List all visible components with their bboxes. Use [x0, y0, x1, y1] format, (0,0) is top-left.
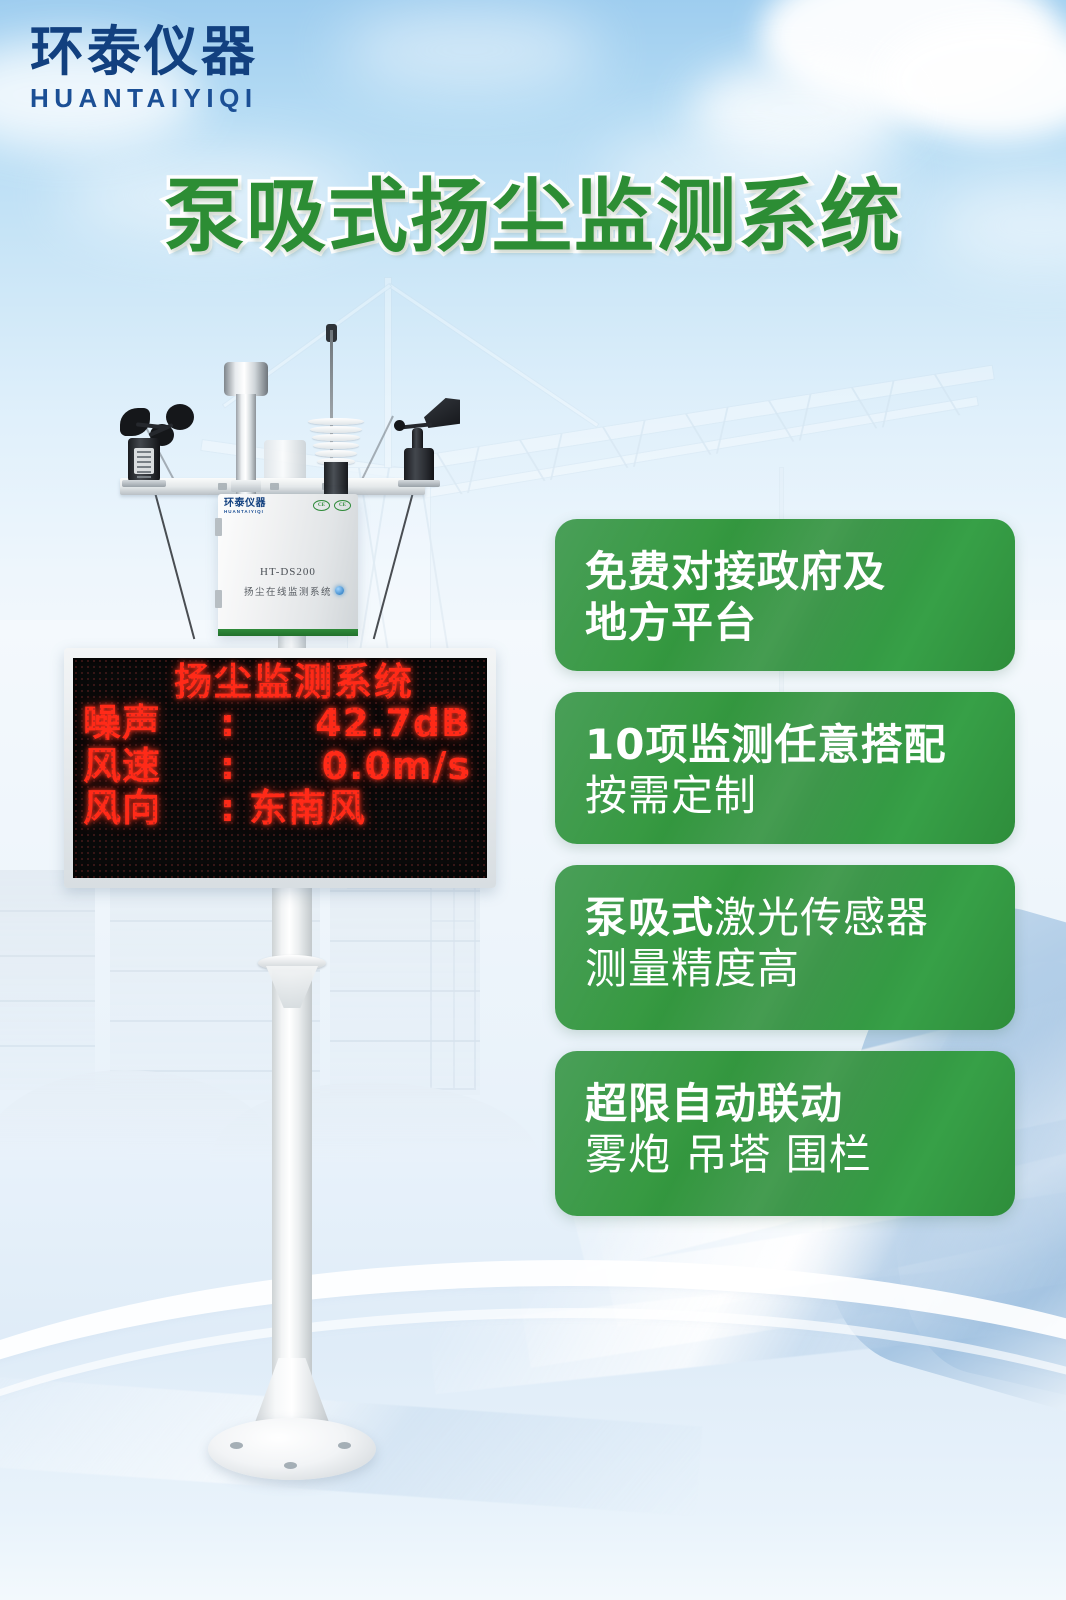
feature-line: 测量精度高 — [585, 943, 985, 994]
led-value-windspeed: 0.0m/s — [245, 745, 477, 788]
feature-card-government-platform[interactable]: 免费对接政府及 地方平台 — [555, 519, 1015, 671]
feature-line: 地方平台 — [585, 597, 985, 648]
power-led-icon — [335, 586, 344, 595]
led-label-windspeed: 风速 — [83, 745, 211, 788]
feature-card-auto-linkage[interactable]: 超限自动联动 雾炮 吊塔 围栏 — [555, 1051, 1015, 1216]
sampling-inlet-tube — [236, 394, 256, 494]
product-poster: 环泰仪器 HUANTAIYIQI 泵吸式扬尘监测系统 — [0, 0, 1066, 1600]
feature-line-emphasis: 泵吸式 — [585, 893, 714, 942]
led-label-noise: 噪声 — [83, 702, 211, 745]
quality-badge-icon: CE — [334, 500, 351, 511]
anemometer-label-plate — [134, 448, 154, 474]
led-colon-noise: : — [211, 702, 245, 745]
control-box-accent-strip — [218, 629, 358, 636]
led-value-noise: 42.7dB — [245, 702, 477, 745]
sampling-inlet-skirt — [231, 480, 261, 492]
sensor-cable-right — [373, 470, 420, 640]
feature-card-list: 免费对接政府及 地方平台 10项监测任意搭配 按需定制 泵吸式激光传感器 测量精… — [555, 519, 1015, 1237]
feature-card-pump-laser-sensor[interactable]: 泵吸式激光传感器 测量精度高 — [555, 865, 1015, 1030]
radiation-shield-sensor — [308, 418, 364, 464]
led-value-winddirection: 东南风 — [245, 787, 477, 830]
feature-line: 免费对接政府及 — [585, 546, 985, 597]
sampling-inlet-cap — [224, 362, 268, 396]
feature-line: 10项监测任意搭配 — [585, 719, 985, 770]
feature-line: 雾炮 吊塔 围栏 — [585, 1129, 985, 1180]
feature-card-ten-parameters[interactable]: 10项监测任意搭配 按需定制 — [555, 692, 1015, 844]
led-content: 扬尘监测系统 噪声 : 42.7dB 风速 : 0.0m/s 风向 : 东 — [73, 658, 487, 830]
led-screen: 扬尘监测系统 噪声 : 42.7dB 风速 : 0.0m/s 风向 : 东 — [73, 658, 487, 878]
control-box-model: HT-DS200 — [218, 566, 358, 578]
led-colon-winddirection: : — [211, 787, 245, 830]
sensor-cable-left — [148, 470, 195, 640]
led-row-noise: 噪声 : 42.7dB — [83, 702, 477, 745]
feature-line: 超限自动联动 — [585, 1078, 985, 1129]
pole-base-plate — [208, 1418, 376, 1480]
led-colon-windspeed: : — [211, 745, 245, 788]
feature-line-tail: 激光传感器 — [714, 893, 929, 942]
led-row-winddirection: 风向 : 东南风 — [83, 787, 477, 830]
led-title: 扬尘监测系统 — [83, 662, 477, 702]
led-label-winddirection: 风向 — [83, 787, 211, 830]
certification-badges: CE CE — [313, 500, 351, 511]
dust-monitor-device: 环泰仪器 HUANTAIYIQI CE CE HT-DS200 扬尘在线监测系统… — [0, 0, 540, 1600]
led-display-board: 扬尘监测系统 噪声 : 42.7dB 风速 : 0.0m/s 风向 : 东 — [64, 648, 496, 888]
control-box: 环泰仪器 HUANTAIYIQI CE CE HT-DS200 扬尘在线监测系统 — [218, 494, 358, 636]
led-row-windspeed: 风速 : 0.0m/s — [83, 745, 477, 788]
feature-line: 泵吸式激光传感器 — [585, 892, 985, 943]
feature-line: 按需定制 — [585, 770, 985, 821]
ce-badge-icon: CE — [313, 500, 330, 511]
